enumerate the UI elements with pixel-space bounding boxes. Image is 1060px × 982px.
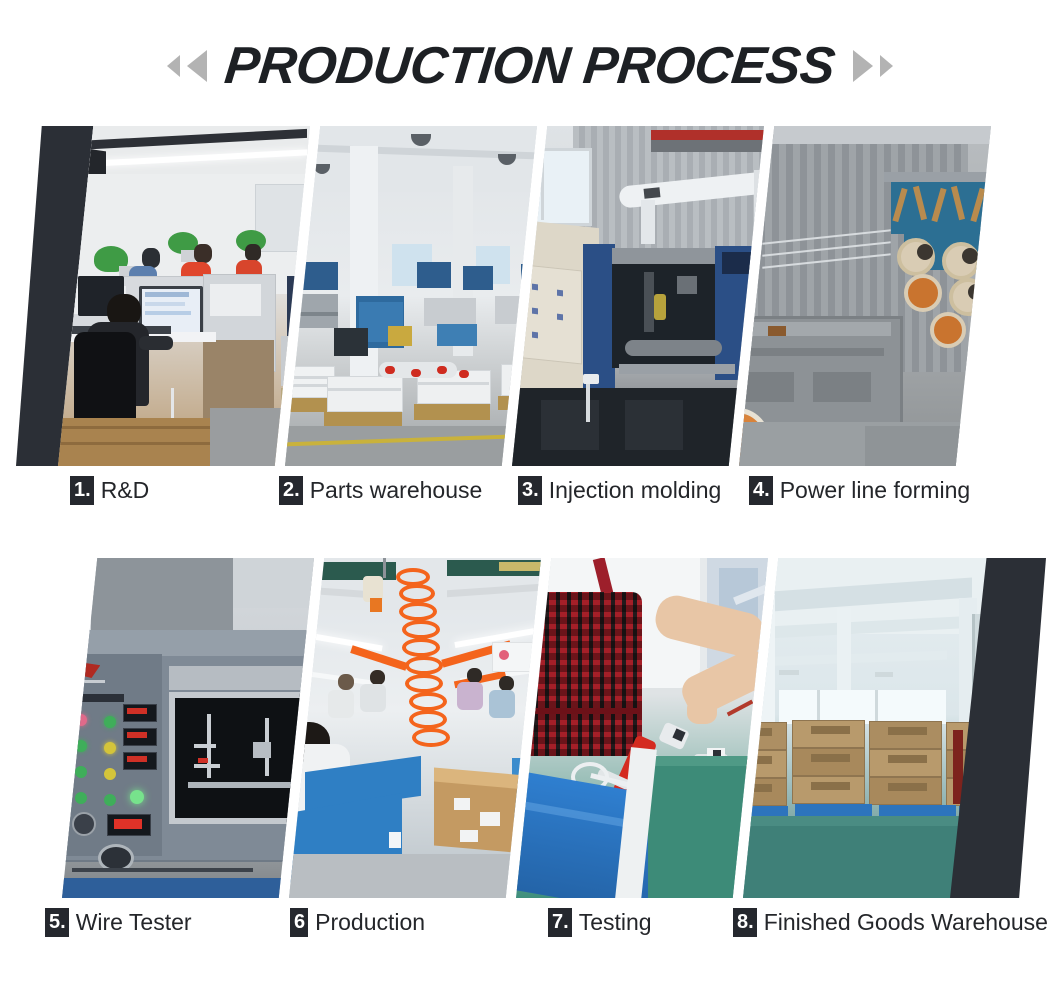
step-number-badge: 3. <box>518 476 542 505</box>
page-title: PRODUCTION PROCESS <box>222 36 838 96</box>
scene-wire-braiding <box>739 126 991 466</box>
process-row-1 <box>0 126 1060 466</box>
right-arrows-group <box>853 50 893 82</box>
scene-injection-molding <box>512 126 764 466</box>
captions-row-2: 5. Wire Tester 6 Production 7. Testing 8… <box>0 908 1060 952</box>
caption-step-1: 1. R&D <box>70 476 149 505</box>
scene-glow-wire-tester <box>62 558 314 898</box>
step-label: Finished Goods Warehouse <box>764 909 1048 936</box>
process-tile-7[interactable] <box>516 558 768 898</box>
arrow-right-small-icon <box>880 55 893 77</box>
process-tile-1[interactable] <box>58 126 310 466</box>
process-tile-5[interactable] <box>62 558 314 898</box>
scene-office-workstations <box>58 126 310 466</box>
caption-step-6: 6 Production <box>290 908 425 937</box>
step-number-badge: 5. <box>45 908 69 937</box>
captions-row-1: 1. R&D 2. Parts warehouse 3. Injection m… <box>0 476 1060 520</box>
scene-assembly-line <box>289 558 541 898</box>
arrow-left-small-icon <box>167 55 180 77</box>
caption-step-7: 7. Testing <box>548 908 652 937</box>
caption-step-2: 2. Parts warehouse <box>279 476 482 505</box>
step-label: R&D <box>101 477 150 504</box>
step-number-badge: 8. <box>733 908 757 937</box>
caption-step-4: 4. Power line forming <box>749 476 970 505</box>
step-label: Wire Tester <box>76 909 192 936</box>
step-label: Injection molding <box>549 477 722 504</box>
caption-step-5: 5. Wire Tester <box>45 908 192 937</box>
caption-step-8: 8. Finished Goods Warehouse <box>733 908 1048 937</box>
page-title-bar: PRODUCTION PROCESS <box>0 30 1060 102</box>
left-arrows-group <box>167 50 207 82</box>
step-number-badge: 1. <box>70 476 94 505</box>
step-label: Testing <box>579 909 652 936</box>
arrow-right-large-icon <box>853 50 873 82</box>
step-number-badge: 6 <box>290 908 308 937</box>
step-number-badge: 7. <box>548 908 572 937</box>
process-tile-2[interactable] <box>285 126 537 466</box>
step-label: Power line forming <box>780 477 970 504</box>
step-number-badge: 4. <box>749 476 773 505</box>
caption-step-3: 3. Injection molding <box>518 476 721 505</box>
scene-parts-warehouse <box>285 126 537 466</box>
production-process-page: PRODUCTION PROCESS <box>0 0 1060 982</box>
step-label: Production <box>315 909 425 936</box>
arrow-left-large-icon <box>187 50 207 82</box>
scene-qc-testing-bench <box>516 558 768 898</box>
step-number-badge: 2. <box>279 476 303 505</box>
process-row-2 <box>0 558 1060 898</box>
process-tile-4[interactable] <box>739 126 991 466</box>
step-label: Parts warehouse <box>310 477 483 504</box>
process-tile-6[interactable] <box>289 558 541 898</box>
process-tile-3[interactable] <box>512 126 764 466</box>
